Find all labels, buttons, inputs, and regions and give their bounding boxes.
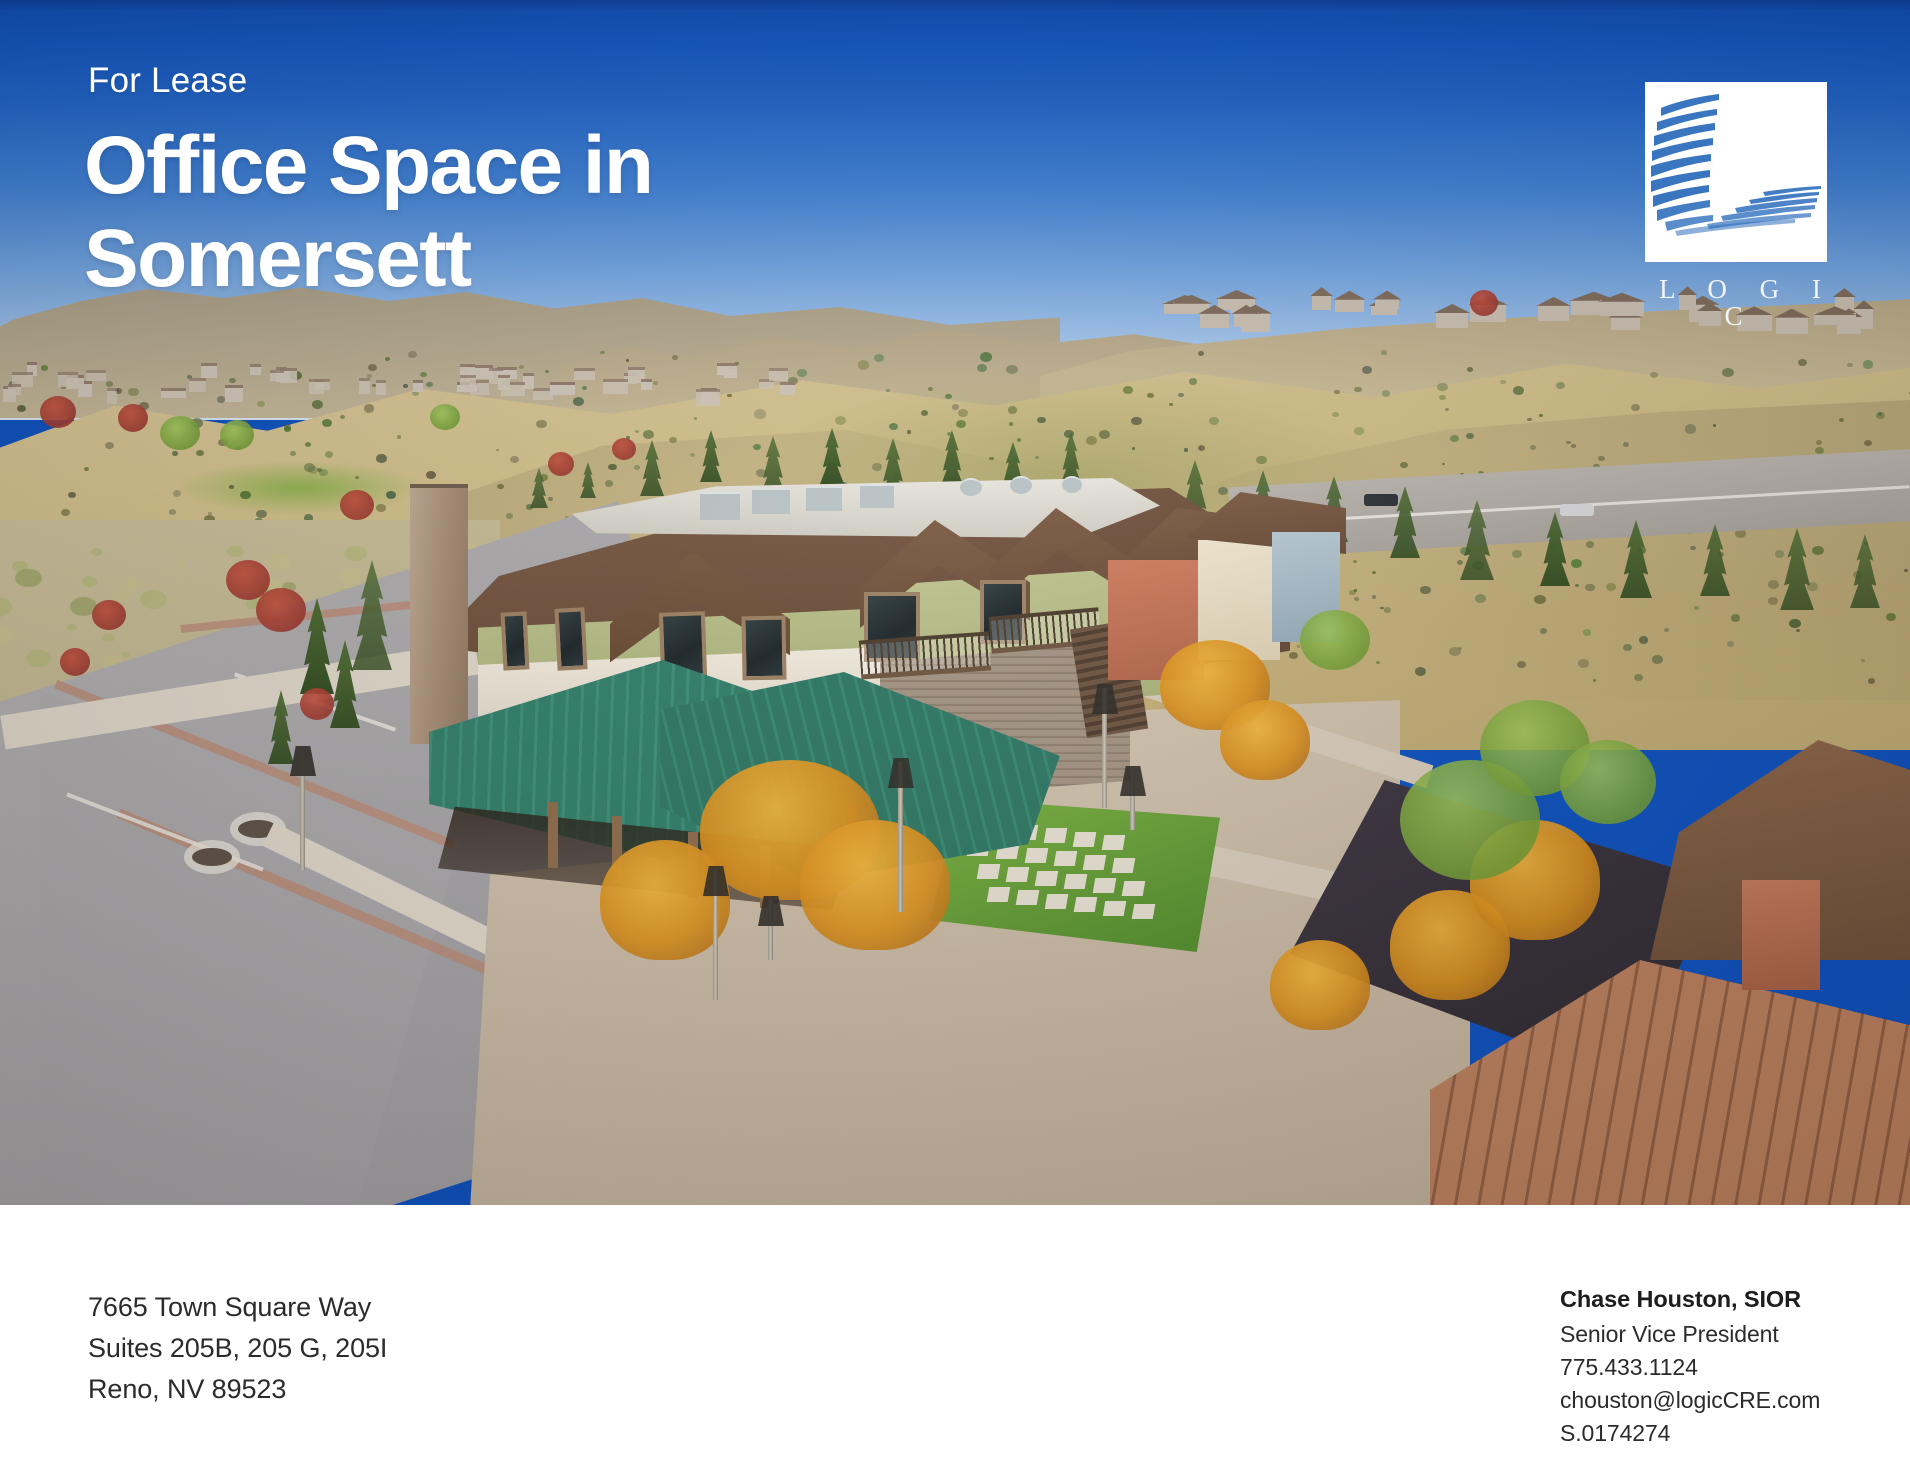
scrub-dot <box>1017 438 1021 441</box>
distant-house <box>769 368 788 381</box>
red-maple-tree <box>300 688 334 720</box>
stepping-stone <box>1025 848 1049 863</box>
sagebrush-clump <box>344 546 367 562</box>
property-address: 7665 Town Square Way Suites 205B, 205 G,… <box>88 1287 387 1410</box>
sagebrush-clump <box>91 548 102 556</box>
scrub-dot <box>1812 546 1824 555</box>
scrub-dot <box>858 360 869 369</box>
stepping-stone <box>1102 835 1126 850</box>
scrub-dot <box>753 444 761 450</box>
scrub-dot <box>1332 412 1339 417</box>
hvac-unit-1 <box>700 492 740 520</box>
autumn-tree <box>800 820 950 950</box>
scrub-dot <box>1816 440 1822 445</box>
scrub-dot <box>376 454 386 462</box>
hero-headline-line-1: Office Space in <box>84 120 984 213</box>
scrub-dot <box>643 430 654 439</box>
scrub-dot <box>1650 372 1658 378</box>
scrub-dot <box>1006 365 1017 374</box>
distant-house <box>86 370 106 381</box>
scrub-dot <box>196 450 204 456</box>
scrub-dot <box>340 415 345 419</box>
scrub-dot <box>1297 645 1300 648</box>
scrub-dot <box>1878 412 1882 415</box>
red-maple-tree <box>1470 290 1498 316</box>
car-on-highway-2 <box>1560 504 1594 516</box>
scrub-dot <box>386 491 396 499</box>
green-deciduous-tree <box>430 404 460 430</box>
distant-house <box>603 379 628 394</box>
stepping-stone <box>1093 878 1117 893</box>
scrub-dot <box>408 351 416 358</box>
scrub-dot <box>1583 629 1591 635</box>
footer-bar: 7665 Town Square Way Suites 205B, 205 G,… <box>0 1205 1910 1473</box>
scrub-dot <box>1289 652 1298 659</box>
scrub-dot <box>548 497 553 501</box>
sagebrush-clump <box>26 650 51 667</box>
distant-house <box>315 379 330 390</box>
stepping-stone <box>977 864 1001 879</box>
manhole-cover-2 <box>192 848 232 866</box>
stone-chimney <box>410 484 468 744</box>
scrub-dot <box>173 490 181 497</box>
scrub-dot <box>1722 368 1734 377</box>
hero-eyebrow: For Lease <box>88 62 247 101</box>
scrub-dot <box>1384 607 1391 612</box>
distant-house <box>696 389 721 405</box>
stepping-stone <box>1073 832 1097 847</box>
red-maple-tree <box>256 588 306 632</box>
window-1 <box>501 611 530 670</box>
sagebrush-clump <box>123 578 142 591</box>
red-maple-tree <box>118 404 148 432</box>
red-maple-tree <box>340 490 374 520</box>
stepping-stone <box>1064 874 1088 889</box>
hvac-unit-2 <box>752 488 790 514</box>
scrub-dot <box>1556 382 1564 389</box>
green-deciduous-tree <box>160 416 200 450</box>
scrub-dot <box>1131 417 1142 426</box>
logic-logo-mark <box>1645 82 1827 262</box>
scrub-dot <box>1839 418 1844 422</box>
scrub-dot <box>1147 393 1153 398</box>
hilltop-house <box>1375 298 1400 309</box>
red-maple-tree <box>612 438 636 460</box>
window-4 <box>741 616 786 681</box>
scrub-dot <box>61 509 70 516</box>
logic-wordmark: L O G I C <box>1645 276 1835 330</box>
hilltop-house <box>1234 312 1259 327</box>
scrub-dot <box>1380 607 1383 610</box>
scrub-dot <box>1540 628 1547 633</box>
scrub-dot <box>1652 655 1662 663</box>
scrub-dot <box>1382 390 1390 396</box>
scrub-dot <box>1376 661 1380 664</box>
scrub-dot <box>1035 456 1038 459</box>
scrub-dot <box>921 410 928 416</box>
sagebrush-clump <box>67 624 77 631</box>
scrub-dot <box>536 420 546 428</box>
scrub-dot <box>240 491 251 499</box>
stepping-stone <box>1112 858 1136 873</box>
stepping-stone <box>1035 871 1059 886</box>
scrub-dot <box>1768 580 1779 589</box>
scrub-dot <box>256 510 266 518</box>
scrub-dot <box>1690 546 1695 550</box>
hilltop-house <box>1611 316 1640 331</box>
scrub-dot <box>1768 597 1778 605</box>
sagebrush-clump <box>227 546 244 558</box>
distant-house <box>717 363 737 375</box>
broker-phone[interactable]: 775.433.1124 <box>1560 1351 1820 1384</box>
stepping-stone <box>1054 851 1078 866</box>
scrub-dot <box>172 451 178 456</box>
stepping-stone <box>1083 855 1107 870</box>
scrub-dot <box>956 420 966 428</box>
scrub-dot <box>952 404 959 409</box>
window-2 <box>554 607 587 670</box>
scrub-dot <box>1008 406 1017 413</box>
hvac-unit-3 <box>806 486 842 511</box>
scrub-dot <box>1639 636 1648 644</box>
scrub-dot <box>1527 418 1531 421</box>
autumn-tree <box>1220 700 1310 780</box>
distant-house <box>161 388 186 398</box>
distant-house <box>189 378 207 392</box>
scrub-dot <box>1037 417 1045 424</box>
building-wall-terracotta-right <box>1742 880 1820 990</box>
scrub-dot <box>1334 390 1339 394</box>
scrub-dot <box>497 484 503 489</box>
scrub-dot <box>1372 595 1376 598</box>
scrub-dot <box>1727 641 1734 646</box>
scrub-dot <box>1354 427 1363 434</box>
address-line-1: 7665 Town Square Way <box>88 1287 387 1328</box>
sky-top-band <box>0 0 1910 10</box>
autumn-tree <box>1270 940 1370 1030</box>
scrub-dot <box>754 409 766 418</box>
scrub-dot <box>872 463 882 471</box>
scrub-dot <box>1796 629 1799 632</box>
hilltop-house <box>1600 300 1644 316</box>
scrub-dot <box>1086 436 1097 445</box>
scrub-dot <box>1530 445 1536 450</box>
hero-headline: Office Space in Somersett <box>84 120 984 305</box>
scrub-dot <box>1904 569 1908 572</box>
red-maple-tree <box>548 452 574 476</box>
red-maple-tree <box>60 648 90 676</box>
green-deciduous-tree <box>1300 610 1370 670</box>
red-maple-tree <box>92 600 126 630</box>
distant-house <box>58 372 79 386</box>
hilltop-house <box>1538 304 1569 321</box>
scrub-dot <box>1864 440 1872 446</box>
stepping-stone <box>1074 897 1098 912</box>
hvac-unit-4 <box>860 484 894 508</box>
stepping-stone <box>1006 867 1030 882</box>
scrub-dot <box>1445 408 1448 411</box>
stepping-stone <box>1045 894 1069 909</box>
scrub-dot <box>874 354 885 362</box>
scrub-dot <box>907 430 911 433</box>
distant-house <box>641 379 652 391</box>
scrub-dot <box>1381 350 1387 355</box>
distant-house <box>780 382 795 396</box>
hilltop-house <box>1173 302 1211 312</box>
distant-house <box>225 385 243 401</box>
green-deciduous-tree <box>220 420 254 450</box>
scrub-dot <box>1685 424 1697 433</box>
scrub-dot <box>1354 387 1361 393</box>
sagebrush-clump <box>82 576 97 587</box>
stepping-stone <box>1016 890 1040 905</box>
roof-vent-3 <box>1062 476 1082 493</box>
hero-headline-line-2: Somersett <box>84 213 984 306</box>
scrub-dot <box>68 492 75 498</box>
logic-logo[interactable]: L O G I C <box>1645 82 1835 330</box>
broker-title: Senior Vice President <box>1560 1318 1820 1351</box>
scrub-dot <box>1571 559 1582 568</box>
scrub-dot <box>290 451 296 456</box>
scrub-dot <box>1775 550 1784 558</box>
hilltop-house <box>1335 298 1363 312</box>
scrub-dot <box>1513 386 1524 395</box>
scrub-dot <box>1713 424 1717 427</box>
stepping-stone <box>987 887 1011 902</box>
scrub-dot <box>889 423 898 430</box>
scrub-dot <box>1789 619 1801 628</box>
distant-house <box>359 378 371 394</box>
scrub-dot <box>672 355 678 360</box>
scrub-dot <box>1169 403 1172 406</box>
scrub-dot <box>1354 589 1358 592</box>
scrub-dot <box>1534 595 1546 605</box>
scrub-dot <box>1868 678 1875 684</box>
hilltop-house <box>1200 312 1228 328</box>
scrub-dot <box>169 509 177 515</box>
scrub-dot <box>506 513 514 519</box>
scrub-dot <box>605 480 613 487</box>
scrub-dot <box>928 387 933 391</box>
distant-house <box>574 368 595 381</box>
roof-vent-1 <box>960 478 982 496</box>
scrub-dot <box>1400 462 1408 468</box>
broker-license: S.0174274 <box>1560 1417 1820 1450</box>
porch-post-1 <box>548 802 558 868</box>
scrub-dot <box>835 416 846 425</box>
stepping-stone <box>1122 881 1146 896</box>
distant-house <box>460 375 476 391</box>
stepping-stone <box>1132 904 1156 919</box>
scrub-dot <box>1571 444 1576 448</box>
roof-vent-2 <box>1010 476 1032 494</box>
scrub-dot <box>1009 422 1014 426</box>
broker-email[interactable]: chouston@logicCRE.com <box>1560 1384 1820 1417</box>
car-on-highway-1 <box>1364 494 1398 506</box>
autumn-tree <box>600 840 730 960</box>
red-maple-tree <box>40 396 76 428</box>
distant-house <box>8 384 21 396</box>
distant-house <box>498 375 510 390</box>
scrub-dot <box>1598 456 1604 461</box>
distant-house <box>376 380 386 394</box>
distant-house <box>413 380 424 392</box>
sagebrush-clump <box>268 553 292 570</box>
scrub-dot <box>1886 613 1896 621</box>
sagebrush-clump <box>339 568 363 585</box>
stepping-stone <box>1103 901 1127 916</box>
scrub-dot <box>229 485 233 489</box>
address-line-2: Suites 205B, 205 G, 205I <box>88 1328 387 1369</box>
scrub-dot <box>1517 661 1526 668</box>
scrub-dot <box>1466 433 1474 439</box>
green-deciduous-tree <box>1560 740 1656 824</box>
distant-house <box>201 363 217 378</box>
scrub-dot <box>355 476 359 479</box>
address-line-3: Reno, NV 89523 <box>88 1369 387 1410</box>
distant-house <box>550 382 575 395</box>
hero-photo: For Lease Office Space in Somersett <box>0 0 1910 1205</box>
hilltop-house <box>1312 294 1331 310</box>
stepping-stone <box>1044 828 1068 843</box>
distant-house <box>250 364 261 375</box>
scrub-dot <box>1512 550 1522 558</box>
broker-contact-block: Chase Houston, SIOR Senior Vice Presiden… <box>1560 1283 1820 1450</box>
valley-residential-strip <box>0 362 820 408</box>
distant-house <box>107 388 117 404</box>
scrub-dot <box>1731 614 1741 622</box>
scrub-dot <box>1189 378 1197 384</box>
scrub-dot <box>980 352 992 362</box>
scrub-dot <box>1439 395 1445 400</box>
hilltop-house <box>1436 311 1468 328</box>
distant-house <box>270 370 284 381</box>
scrub-dot <box>385 357 390 361</box>
scrub-dot <box>1694 606 1699 610</box>
broker-name: Chase Houston, SIOR <box>1560 1283 1820 1317</box>
sagebrush-clump <box>122 652 130 658</box>
